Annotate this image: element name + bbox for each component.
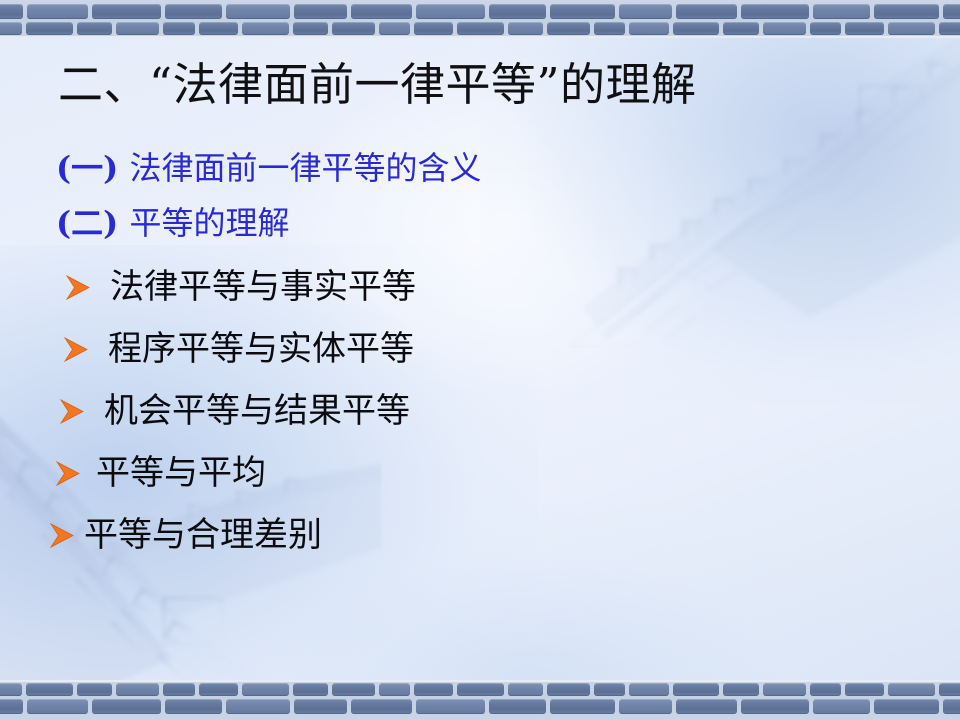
list-item: 平等与平均 [50,456,266,490]
subheading-two: (二) 平等的理解 [56,207,289,239]
arrowhead-bullet-icon [58,333,92,367]
subheading-one-number: (一) [56,149,118,187]
list-item-label: 机会平等与结果平等 [94,394,410,428]
list-item: 程序平等与实体平等 [58,332,414,366]
list-item-label: 平等与合理差别 [84,518,322,552]
list-item: 平等与合理差别 [44,518,322,552]
slide-content: 二、“法律面前一律平等”的理解 (一) 法律面前一律平等的含义 (二) 平等的理… [0,0,960,720]
slide-title: 二、“法律面前一律平等”的理解 [58,58,918,111]
subheading-one: (一) 法律面前一律平等的含义 [56,152,481,184]
arrowhead-bullet-icon [50,457,84,491]
list-item-label: 程序平等与实体平等 [98,332,414,366]
arrowhead-bullet-icon [44,519,78,553]
list-item-label: 平等与平均 [90,456,266,490]
subheading-two-number: (二) [56,204,118,242]
slide-canvas: 二、“法律面前一律平等”的理解 (一) 法律面前一律平等的含义 (二) 平等的理… [0,0,960,720]
list-item: 法律平等与事实平等 [60,270,416,304]
subheading-two-text: 平等的理解 [129,204,289,242]
subheading-one-text: 法律面前一律平等的含义 [129,149,481,187]
arrowhead-bullet-icon [54,395,88,429]
list-item: 机会平等与结果平等 [54,394,410,428]
arrowhead-bullet-icon [60,271,94,305]
list-item-label: 法律平等与事实平等 [100,270,416,304]
